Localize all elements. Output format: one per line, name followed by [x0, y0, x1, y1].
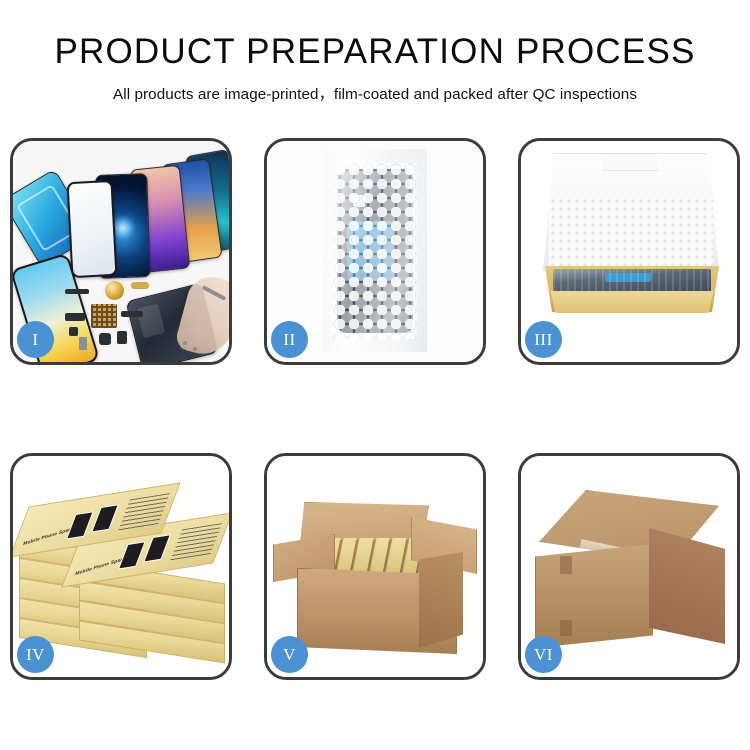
step-badge-2: II [271, 321, 308, 358]
part-screw-2 [193, 347, 197, 351]
step-badge-3: III [525, 321, 562, 358]
part-flex-1 [131, 282, 149, 289]
step-badge-6: VI [525, 636, 562, 673]
step-badge-4: IV [17, 636, 54, 673]
part-camera [99, 333, 111, 345]
step-badge-1: I [17, 321, 54, 358]
process-step-4: Mobile Phone Spare Parts Mobile Phone Sp… [10, 453, 232, 680]
speaker-part-icon [105, 281, 124, 300]
box-screen-art-r1 [118, 541, 146, 569]
box-spec-lines-left [118, 493, 170, 531]
part-tray [79, 337, 87, 350]
part-flex-2 [121, 311, 143, 317]
process-step-2: II [264, 138, 486, 365]
box-screen-art-r2 [143, 534, 171, 562]
part-flex-3 [65, 313, 85, 321]
part-strip-1 [65, 289, 89, 294]
box-screen-art-l2 [91, 504, 119, 532]
process-step-grid: I II III [10, 138, 740, 680]
plastic-sheen [323, 149, 427, 352]
bubble-wrap-sleeve [323, 149, 427, 352]
part-chip-1 [69, 327, 78, 336]
tempered-glass-image [67, 180, 118, 278]
sealed-carton-front [535, 544, 653, 648]
box-screen-art-l1 [66, 511, 94, 539]
process-step-3: III [518, 138, 740, 365]
step-badge-5: V [271, 636, 308, 673]
foam-liner [549, 197, 713, 275]
page-header: PRODUCT PREPARATION PROCESS All products… [0, 0, 750, 104]
page-title: PRODUCT PREPARATION PROCESS [0, 34, 750, 71]
process-step-1: I [10, 138, 232, 365]
process-step-6: VI [518, 453, 740, 680]
carton-tab-bottom [560, 620, 572, 636]
page-subtitle: All products are image-printed，film-coat… [0, 82, 750, 104]
part-chip-2 [117, 331, 127, 344]
mailer-front-panel [547, 291, 717, 313]
sealed-carton-side [649, 528, 725, 644]
process-step-5: V [264, 453, 486, 680]
box-spec-lines-right [170, 523, 222, 561]
hand-image [174, 272, 229, 361]
carton-tab-top [560, 556, 572, 574]
part-grid [91, 304, 117, 328]
carton-side-panel [419, 552, 463, 648]
product-preparation-page: PRODUCT PREPARATION PROCESS All products… [0, 0, 750, 750]
part-screw-1 [183, 341, 187, 345]
